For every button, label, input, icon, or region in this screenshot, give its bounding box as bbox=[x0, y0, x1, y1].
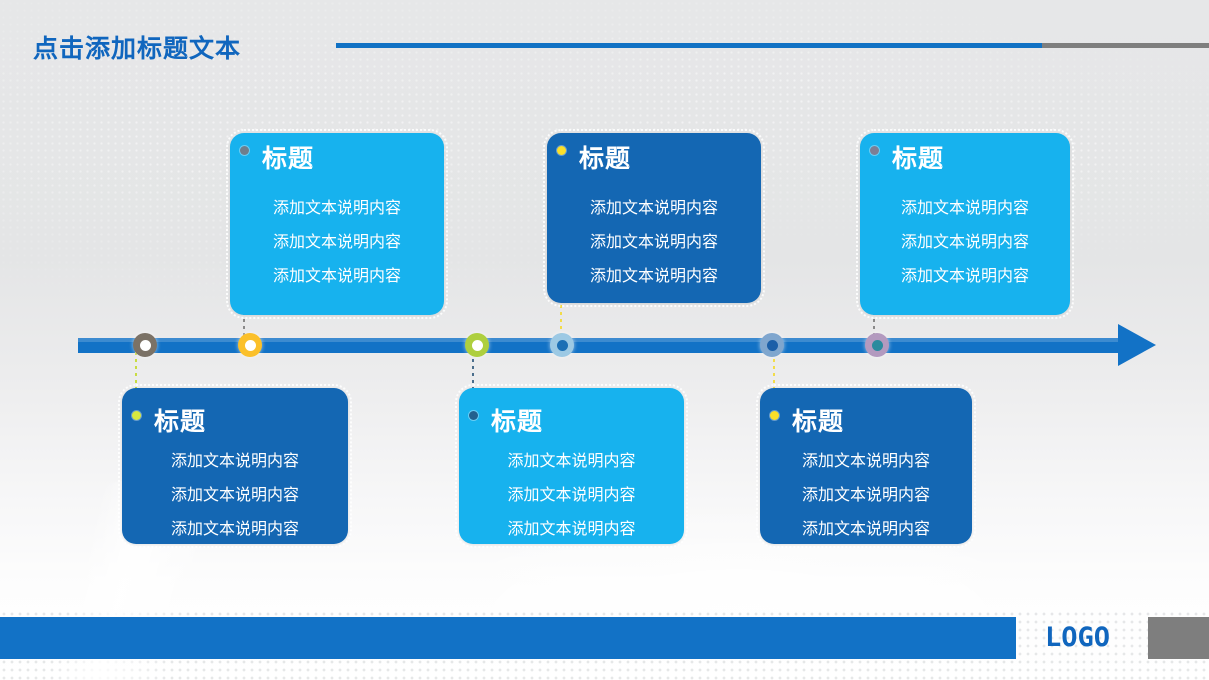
page-title: 点击添加标题文本 bbox=[33, 29, 241, 65]
slide-canvas: 点击添加标题文本 标题添加文本说明内容添加文本说明内容添加文本说明内容标题添加文… bbox=[0, 0, 1209, 680]
card-bottom-3-body: 添加文本说明内容添加文本说明内容添加文本说明内容 bbox=[760, 444, 972, 546]
card-top-1-title: 标题 bbox=[262, 139, 314, 175]
card-bottom-1-line-3: 添加文本说明内容 bbox=[122, 512, 348, 546]
card-bottom-1-line-1: 添加文本说明内容 bbox=[122, 444, 348, 478]
card-bottom-1-title: 标题 bbox=[154, 402, 206, 438]
card-bottom-3[interactable]: 标题添加文本说明内容添加文本说明内容添加文本说明内容 bbox=[760, 388, 972, 544]
marker-5-core bbox=[767, 340, 778, 351]
marker-3[interactable] bbox=[465, 333, 489, 357]
card-top-2[interactable]: 标题添加文本说明内容添加文本说明内容添加文本说明内容 bbox=[547, 133, 761, 303]
timeline-bar bbox=[78, 338, 1120, 353]
footer-bar bbox=[0, 617, 1016, 659]
card-top-1-line-3: 添加文本说明内容 bbox=[230, 259, 444, 293]
card-top-2-line-2: 添加文本说明内容 bbox=[547, 225, 761, 259]
card-bottom-2-bullet-dot-icon bbox=[469, 411, 478, 420]
footer-gray-block bbox=[1148, 617, 1209, 659]
marker-1-core bbox=[140, 340, 151, 351]
card-top-1-line-1: 添加文本说明内容 bbox=[230, 191, 444, 225]
marker-1[interactable] bbox=[133, 333, 157, 357]
card-bottom-3-bullet-dot-icon bbox=[770, 411, 779, 420]
marker-4-core bbox=[557, 340, 568, 351]
card-bottom-2-line-1: 添加文本说明内容 bbox=[459, 444, 684, 478]
card-bottom-3-line-2: 添加文本说明内容 bbox=[760, 478, 972, 512]
card-top-3-line-1: 添加文本说明内容 bbox=[860, 191, 1070, 225]
card-top-1-line-2: 添加文本说明内容 bbox=[230, 225, 444, 259]
marker-4[interactable] bbox=[550, 333, 574, 357]
card-top-3-line-3: 添加文本说明内容 bbox=[860, 259, 1070, 293]
card-top-2-line-3: 添加文本说明内容 bbox=[547, 259, 761, 293]
card-bottom-2-line-3: 添加文本说明内容 bbox=[459, 512, 684, 546]
card-bottom-2[interactable]: 标题添加文本说明内容添加文本说明内容添加文本说明内容 bbox=[459, 388, 684, 544]
card-bottom-1-bullet-dot-icon bbox=[132, 411, 141, 420]
marker-2-core bbox=[245, 340, 256, 351]
card-bottom-1-line-2: 添加文本说明内容 bbox=[122, 478, 348, 512]
logo-placeholder[interactable]: LOGO bbox=[1045, 622, 1110, 653]
card-top-2-title: 标题 bbox=[579, 139, 631, 175]
card-bottom-2-body: 添加文本说明内容添加文本说明内容添加文本说明内容 bbox=[459, 444, 684, 546]
marker-5[interactable] bbox=[760, 333, 784, 357]
card-bottom-2-title: 标题 bbox=[491, 402, 543, 438]
card-bottom-3-title: 标题 bbox=[792, 402, 844, 438]
card-top-3-body: 添加文本说明内容添加文本说明内容添加文本说明内容 bbox=[860, 191, 1070, 293]
card-top-1-body: 添加文本说明内容添加文本说明内容添加文本说明内容 bbox=[230, 191, 444, 293]
card-top-2-body: 添加文本说明内容添加文本说明内容添加文本说明内容 bbox=[547, 191, 761, 293]
card-bottom-2-line-2: 添加文本说明内容 bbox=[459, 478, 684, 512]
marker-6-core bbox=[872, 340, 883, 351]
card-top-1[interactable]: 标题添加文本说明内容添加文本说明内容添加文本说明内容 bbox=[230, 133, 444, 315]
header-rule-gray bbox=[1042, 43, 1209, 48]
card-top-3-line-2: 添加文本说明内容 bbox=[860, 225, 1070, 259]
card-bottom-1[interactable]: 标题添加文本说明内容添加文本说明内容添加文本说明内容 bbox=[122, 388, 348, 544]
header-rule-blue bbox=[336, 43, 1042, 48]
marker-6[interactable] bbox=[865, 333, 889, 357]
card-top-1-bullet-dot-icon bbox=[240, 146, 249, 155]
marker-3-core bbox=[472, 340, 483, 351]
card-top-2-line-1: 添加文本说明内容 bbox=[547, 191, 761, 225]
card-bottom-3-line-1: 添加文本说明内容 bbox=[760, 444, 972, 478]
timeline-arrow-icon bbox=[1118, 324, 1156, 366]
card-top-3-bullet-dot-icon bbox=[870, 146, 879, 155]
card-top-3[interactable]: 标题添加文本说明内容添加文本说明内容添加文本说明内容 bbox=[860, 133, 1070, 315]
card-top-3-title: 标题 bbox=[892, 139, 944, 175]
card-bottom-1-body: 添加文本说明内容添加文本说明内容添加文本说明内容 bbox=[122, 444, 348, 546]
card-top-2-bullet-dot-icon bbox=[557, 146, 566, 155]
marker-2[interactable] bbox=[238, 333, 262, 357]
card-bottom-3-line-3: 添加文本说明内容 bbox=[760, 512, 972, 546]
